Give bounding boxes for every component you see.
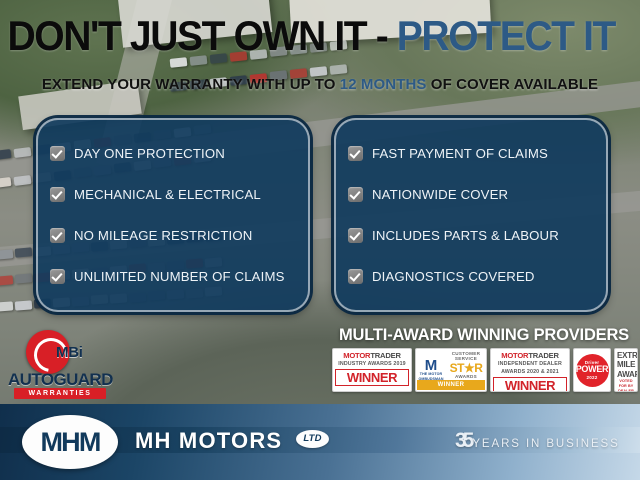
check-icon [348, 228, 363, 243]
headline-primary: DON'T JUST OWN IT - [7, 12, 396, 59]
feature-label: NATIONWIDE COVER [372, 187, 508, 202]
feature-item: MECHANICAL & ELECTRICAL [50, 174, 298, 215]
feature-label: MECHANICAL & ELECTRICAL [74, 187, 261, 202]
features-panel-left: DAY ONE PROTECTION MECHANICAL & ELECTRIC… [36, 118, 310, 312]
mbi-brand-name: AUTOGUARD [8, 370, 112, 390]
award-badge-motortrader-2019: MOTORTRADER INDUSTRY AWARDS 2019 WINNER [332, 348, 412, 392]
dealer-logo[interactable]: MHM [22, 415, 118, 469]
warranty-provider-logo: MBi AUTOGUARD WARRANTIES [8, 330, 116, 402]
dealer-footer-bar: MHM MH MOTORS LTD 35 YEARS IN BUSINESS [0, 404, 640, 480]
years-label: YEARS IN BUSINESS [472, 438, 619, 450]
headline-accent: PROTECT IT [397, 12, 615, 59]
years-number: 35 [455, 431, 470, 450]
star-award-icon: ST★R [446, 362, 486, 374]
feature-label: DIAGNOSTICS COVERED [372, 269, 535, 284]
award-badge-line1: EXTRA [617, 351, 635, 360]
check-icon [50, 146, 65, 161]
check-icon [348, 269, 363, 284]
check-icon [50, 269, 65, 284]
award-badge-line3: AWARD [617, 370, 635, 379]
subheadline: EXTEND YOUR WARRANTY WITH UP TO 12 MONTH… [0, 76, 640, 93]
dealer-logo-monogram: MHM [40, 427, 99, 458]
feature-item: DIAGNOSTICS COVERED [348, 256, 596, 297]
award-badge-motortrader-dealer: MOTORTRADER INDEPENDENT DEALER AWARDS 20… [490, 348, 570, 392]
award-badge-customer-service-star: M THE MOTOR OMBUDSMAN CUSTOMER SERVICE S… [415, 348, 487, 392]
feature-item: DAY ONE PROTECTION [50, 133, 298, 174]
feature-label: INCLUDES PARTS & LABOUR [372, 228, 559, 243]
headline: DON'T JUST OWN IT - PROTECT IT [0, 14, 595, 58]
ombudsman-m-icon: M [425, 359, 438, 372]
feature-label: NO MILEAGE RESTRICTION [74, 228, 252, 243]
features-panel-right: FAST PAYMENT OF CLAIMS NATIONWIDE COVER … [334, 118, 608, 312]
award-badge-driver-power-2022: Driver POWER 2022 [573, 348, 611, 392]
feature-label: UNLIMITED NUMBER OF CLAIMS [74, 269, 285, 284]
mbi-brand-short: MBi [56, 344, 83, 361]
award-badge-result: WINNER [493, 377, 567, 392]
award-badge-line2: MILE [617, 360, 635, 369]
background-car [0, 249, 13, 259]
award-badge-extra-mile: EXTRA MILE AWARD VOTED FOR BY DEALER PAR… [614, 348, 638, 392]
feature-item: INCLUDES PARTS & LABOUR [348, 215, 596, 256]
check-icon [50, 187, 65, 202]
feature-label: DAY ONE PROTECTION [74, 146, 225, 161]
dealer-ltd-badge: LTD [296, 430, 329, 448]
award-badge-subtitle: INDEPENDENT DEALER [493, 360, 567, 368]
feature-item: NATIONWIDE COVER [348, 174, 596, 215]
award-badge-result: WINNER [417, 380, 485, 390]
driver-power-seal-icon: Driver POWER 2022 [576, 354, 609, 387]
award-badge-subtitle: INDUSTRY AWARDS 2019 [335, 360, 409, 368]
award-badge-years: AWARDS 2020 & 2021 [493, 368, 567, 376]
background-car [0, 275, 13, 285]
years-in-business: 35 YEARS IN BUSINESS [455, 431, 620, 450]
feature-item: NO MILEAGE RESTRICTION [50, 215, 298, 256]
background-car [15, 300, 33, 310]
background-car [0, 301, 13, 311]
subheadline-accent: 12 MONTHS [340, 76, 427, 93]
check-icon [348, 146, 363, 161]
background-car [14, 175, 32, 186]
driver-power-title: POWER [576, 366, 609, 374]
feature-item: FAST PAYMENT OF CLAIMS [348, 133, 596, 174]
feature-label: FAST PAYMENT OF CLAIMS [372, 146, 548, 161]
background-car [14, 147, 32, 158]
award-badge-subtitle: VOTED FOR BY DEALER PARTNERS [617, 379, 635, 392]
check-icon [50, 228, 65, 243]
subheadline-after: OF COVER AVAILABLE [427, 76, 599, 93]
mbi-tagline: WARRANTIES [14, 388, 106, 399]
award-badge-title: MOTORTRADER [493, 351, 567, 360]
subheadline-before: EXTEND YOUR WARRANTY WITH UP TO [42, 76, 340, 93]
feature-item: UNLIMITED NUMBER OF CLAIMS [50, 256, 298, 297]
check-icon [348, 187, 363, 202]
awards-badge-row: MOTORTRADER INDUSTRY AWARDS 2019 WINNER … [332, 348, 638, 392]
dealer-name: MH MOTORS [135, 428, 282, 454]
award-badge-title: MOTORTRADER [335, 351, 409, 360]
award-badge-result: WINNER [335, 369, 409, 386]
driver-power-year: 2022 [576, 374, 609, 382]
awards-heading: MULTI-AWARD WINNING PROVIDERS [334, 326, 634, 345]
